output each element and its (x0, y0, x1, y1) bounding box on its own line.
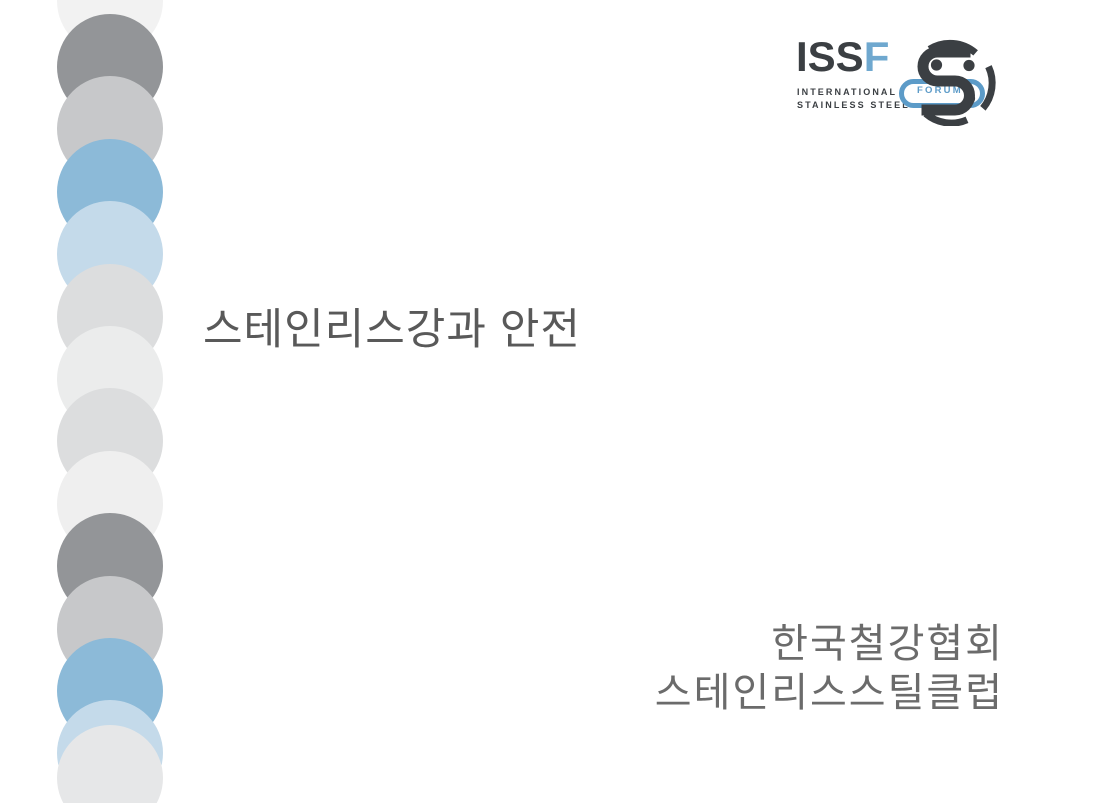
decorative-circle-column (57, 0, 163, 803)
issf-logo: ISSF INTERNATIONAL STAINLESS STEEL FORUM (791, 32, 1003, 126)
organization-block: 한국철강협회 스테인리스스틸클럽 (655, 620, 1004, 718)
issf-wordmark: ISSF (796, 36, 889, 78)
issf-ring-and-s-icon (893, 32, 1003, 126)
issf-wordmark-accent: F (864, 33, 890, 80)
issf-subline-international: INTERNATIONAL (797, 86, 897, 99)
organization-sub-name: 스테인리스스틸클럽 (655, 669, 1004, 718)
issf-wordmark-dark: ISS (796, 33, 864, 80)
issf-emblem: FORUM (893, 32, 1003, 126)
organization-name: 한국철강협회 (655, 620, 1004, 669)
title-slide: ISSF INTERNATIONAL STAINLESS STEEL FORUM (0, 0, 1096, 803)
title-block: 스테인리스강과 안전 (203, 306, 823, 355)
page-title: 스테인리스강과 안전 (203, 306, 823, 355)
